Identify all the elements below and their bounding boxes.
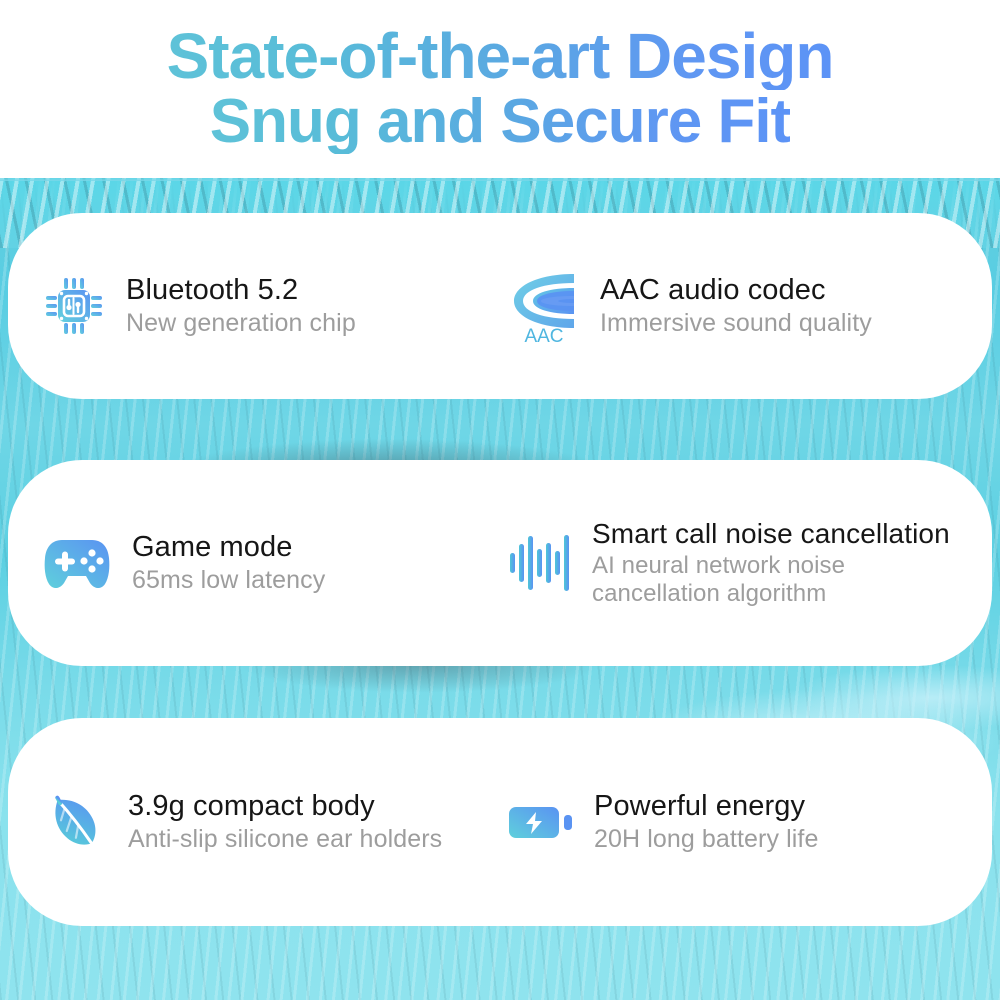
headline-line-1: State-of-the-art Design	[167, 24, 834, 90]
feature-text: Bluetooth 5.2 New generation chip	[126, 274, 356, 339]
gamepad-icon	[42, 534, 112, 592]
feature-title: Powerful energy	[594, 790, 818, 823]
feature-bluetooth: Bluetooth 5.2 New generation chip	[8, 274, 498, 339]
feature-title: Bluetooth 5.2	[126, 274, 356, 307]
feature-compact-body: 3.9g compact body Anti-slip silicone ear…	[8, 790, 498, 855]
feature-noise-cancellation: Smart call noise cancellation AI neural …	[498, 518, 968, 609]
battery-charging-icon	[508, 801, 574, 843]
feature-card: Game mode 65ms low latency	[8, 460, 992, 666]
product-feature-poster: State-of-the-art Design Snug and Secure …	[0, 0, 1000, 1000]
audio-waveform-icon	[508, 532, 572, 594]
feature-title: Game mode	[132, 531, 325, 564]
feature-battery: Powerful energy 20H long battery life	[498, 790, 968, 855]
feature-text: AAC audio codec Immersive sound quality	[600, 274, 872, 339]
feature-subtitle: AI neural network noise cancellation alg…	[592, 552, 968, 609]
aac-soundwave-icon: AAC	[508, 268, 580, 344]
feather-icon	[42, 792, 108, 852]
feature-game-mode: Game mode 65ms low latency	[8, 531, 498, 596]
feature-text: Powerful energy 20H long battery life	[594, 790, 818, 855]
feature-subtitle: Immersive sound quality	[600, 309, 872, 339]
feature-subtitle: Anti-slip silicone ear holders	[128, 825, 442, 855]
feature-title: AAC audio codec	[600, 274, 872, 307]
feature-text: Game mode 65ms low latency	[132, 531, 325, 596]
feature-subtitle: 20H long battery life	[594, 825, 818, 855]
feature-card: 3.9g compact body Anti-slip silicone ear…	[8, 718, 992, 926]
feature-text: 3.9g compact body Anti-slip silicone ear…	[128, 790, 442, 855]
header-banner: State-of-the-art Design Snug and Secure …	[0, 0, 1000, 178]
aac-icon-label: AAC	[524, 326, 563, 344]
feature-card: Bluetooth 5.2 New generation chip	[8, 213, 992, 399]
feature-aac: AAC AAC audio codec Immersive sound qual…	[498, 268, 968, 344]
feature-title: Smart call noise cancellation	[592, 518, 968, 550]
feature-title: 3.9g compact body	[128, 790, 442, 823]
microchip-icon	[42, 274, 106, 338]
headline-line-2: Snug and Secure Fit	[210, 90, 790, 154]
feature-subtitle: New generation chip	[126, 309, 356, 339]
feature-text: Smart call noise cancellation AI neural …	[592, 518, 968, 609]
feature-subtitle: 65ms low latency	[132, 566, 325, 596]
